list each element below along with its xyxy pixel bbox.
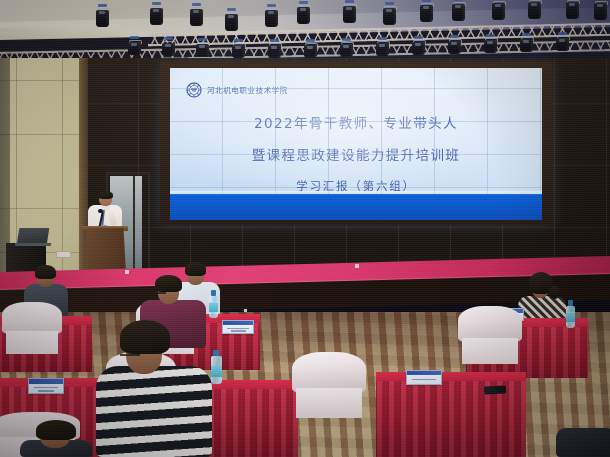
- podium: [84, 228, 126, 274]
- audience-person-bottom-right: [556, 418, 610, 457]
- audience-person-bottom-left: [20, 420, 92, 457]
- led-screen-frame: 河北机电职业技术学院 2022年骨干教师、专业带头人 暨课程思政建设能力提升培训…: [160, 62, 552, 225]
- table-name-card: [28, 378, 64, 394]
- audience-person-hair-bun: [549, 286, 560, 299]
- laptop-base: [15, 243, 51, 246]
- smartphone: [484, 385, 506, 394]
- microphone-icon: [98, 209, 103, 213]
- table-name-card: [406, 370, 442, 385]
- chair: [292, 352, 366, 418]
- audience-person-striped-foreground: [96, 318, 212, 457]
- audience-person-hair: [120, 320, 170, 354]
- eyeglasses-icon: [529, 285, 538, 287]
- eyeglasses-icon: [120, 354, 140, 356]
- audience-person-shirt: [96, 366, 212, 457]
- eyeglasses-icon: [154, 292, 166, 294]
- chair: [458, 306, 522, 364]
- door-mullion: [133, 176, 135, 272]
- chair: [2, 302, 62, 354]
- screen-blue-band: [170, 194, 542, 220]
- stage-marker: [355, 264, 359, 268]
- table-name-card: [222, 320, 254, 334]
- stage-marker: [125, 270, 129, 274]
- audience-person-hair: [155, 275, 182, 292]
- audience-person-hair: [35, 265, 56, 279]
- led-screen: 河北机电职业技术学院 2022年骨干教师、专业带头人 暨课程思政建设能力提升培训…: [170, 68, 542, 220]
- audience-person-shirt: [556, 428, 610, 457]
- audience-person-hair: [36, 420, 76, 440]
- presenter-hair: [98, 191, 113, 199]
- wall-sign: [56, 251, 71, 258]
- conference-hall-photo: 河北机电职业技术学院 2022年骨干教师、专业带头人 暨课程思政建设能力提升培训…: [0, 0, 610, 457]
